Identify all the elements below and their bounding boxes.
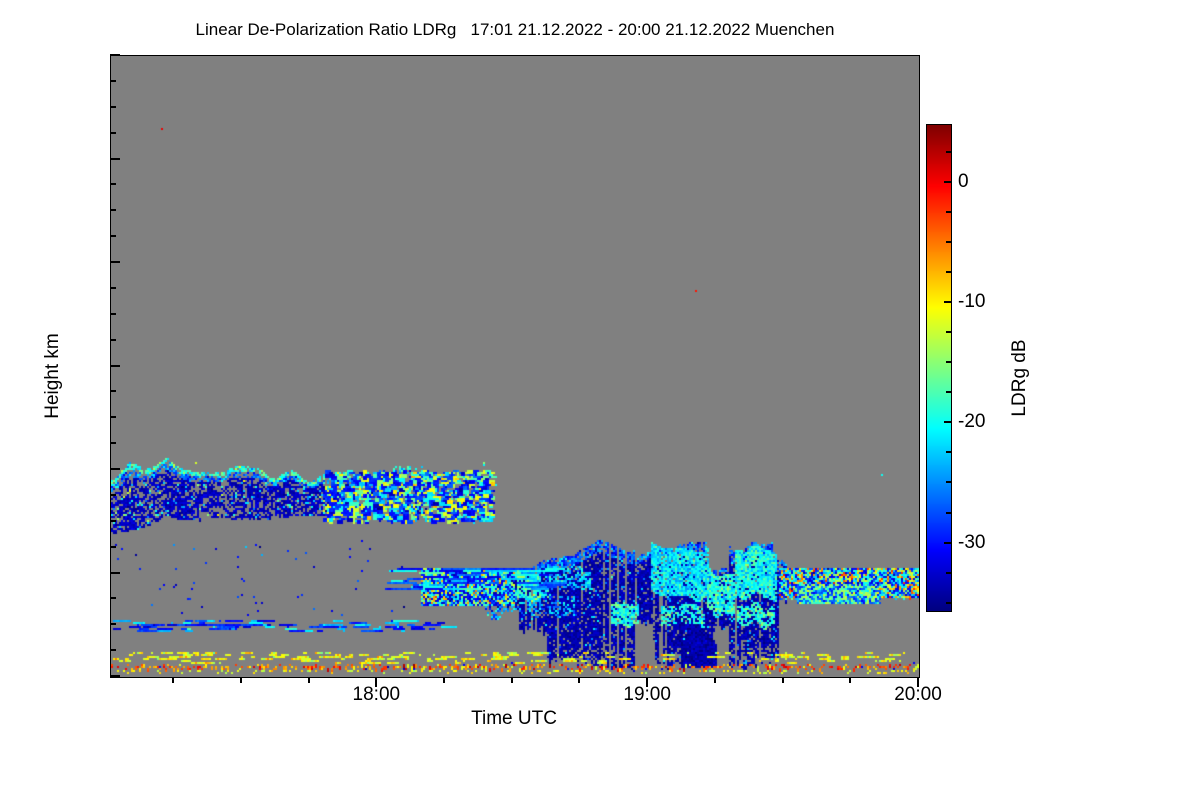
y-minor-tick-mark <box>110 339 116 341</box>
colorbar-tick-mark <box>944 181 951 183</box>
y-tick-mark <box>110 468 120 470</box>
y-minor-tick-mark <box>110 442 116 444</box>
y-minor-tick-mark <box>110 209 116 211</box>
y-minor-tick-mark <box>110 235 116 237</box>
colorbar[interactable] <box>926 124 952 612</box>
colorbar-minor-tick-mark <box>946 572 951 574</box>
colorbar-minor-tick-mark <box>946 361 951 363</box>
colorbar-label: LDRg dB <box>1009 278 1031 478</box>
x-minor-tick-mark <box>172 677 174 683</box>
x-minor-tick-mark <box>511 677 513 683</box>
colorbar-gradient <box>927 125 951 611</box>
heatmap-canvas <box>111 56 919 677</box>
y-tick-mark <box>110 54 120 56</box>
colorbar-tick-label: -10 <box>958 291 985 313</box>
x-minor-tick-mark <box>782 677 784 683</box>
y-minor-tick-mark <box>110 520 116 522</box>
x-minor-tick-mark <box>308 677 310 683</box>
colorbar-minor-tick-mark <box>946 211 951 213</box>
colorbar-tick-label: 0 <box>958 171 969 193</box>
y-minor-tick-mark <box>110 313 116 315</box>
y-minor-tick-mark <box>110 183 116 185</box>
colorbar-tick-mark <box>944 421 951 423</box>
x-minor-tick-mark <box>443 677 445 683</box>
y-minor-tick-mark <box>110 494 116 496</box>
x-minor-tick-mark <box>240 677 242 683</box>
chart-title: Linear De-Polarization Ratio LDRg 17:01 … <box>0 20 1030 40</box>
colorbar-minor-tick-mark <box>946 241 951 243</box>
colorbar-tick-mark <box>944 542 951 544</box>
colorbar-minor-tick-mark <box>946 512 951 514</box>
y-tick-mark <box>110 572 120 574</box>
figure-canvas: Linear De-Polarization Ratio LDRg 17:01 … <box>0 0 1200 800</box>
y-minor-tick-mark <box>110 546 116 548</box>
colorbar-tick-mark <box>944 301 951 303</box>
x-tick-label: 18:00 <box>353 684 401 706</box>
colorbar-minor-tick-mark <box>946 271 951 273</box>
y-minor-tick-mark <box>110 106 116 108</box>
x-minor-tick-mark <box>849 677 851 683</box>
colorbar-minor-tick-mark <box>946 451 951 453</box>
y-minor-tick-mark <box>110 597 116 599</box>
y-minor-tick-mark <box>110 416 116 418</box>
y-tick-mark <box>110 365 120 367</box>
x-tick-label: 19:00 <box>623 684 671 706</box>
y-minor-tick-mark <box>110 287 116 289</box>
x-axis-label: Time UTC <box>110 708 918 730</box>
colorbar-minor-tick-mark <box>946 602 951 604</box>
y-minor-tick-mark <box>110 132 116 134</box>
y-axis-label: Height km <box>42 276 64 476</box>
x-tick-label: 20:00 <box>894 684 942 706</box>
y-tick-mark <box>110 261 120 263</box>
colorbar-tick-label: -30 <box>958 532 985 554</box>
y-tick-mark <box>110 675 120 677</box>
y-minor-tick-mark <box>110 390 116 392</box>
x-minor-tick-mark <box>578 677 580 683</box>
y-minor-tick-mark <box>110 80 116 82</box>
y-tick-mark <box>110 158 120 160</box>
y-minor-tick-mark <box>110 649 116 651</box>
colorbar-tick-label: -20 <box>958 411 985 433</box>
colorbar-minor-tick-mark <box>946 391 951 393</box>
x-minor-tick-mark <box>714 677 716 683</box>
colorbar-minor-tick-mark <box>946 151 951 153</box>
y-minor-tick-mark <box>110 623 116 625</box>
plot-area[interactable] <box>110 55 920 678</box>
colorbar-minor-tick-mark <box>946 331 951 333</box>
colorbar-minor-tick-mark <box>946 481 951 483</box>
